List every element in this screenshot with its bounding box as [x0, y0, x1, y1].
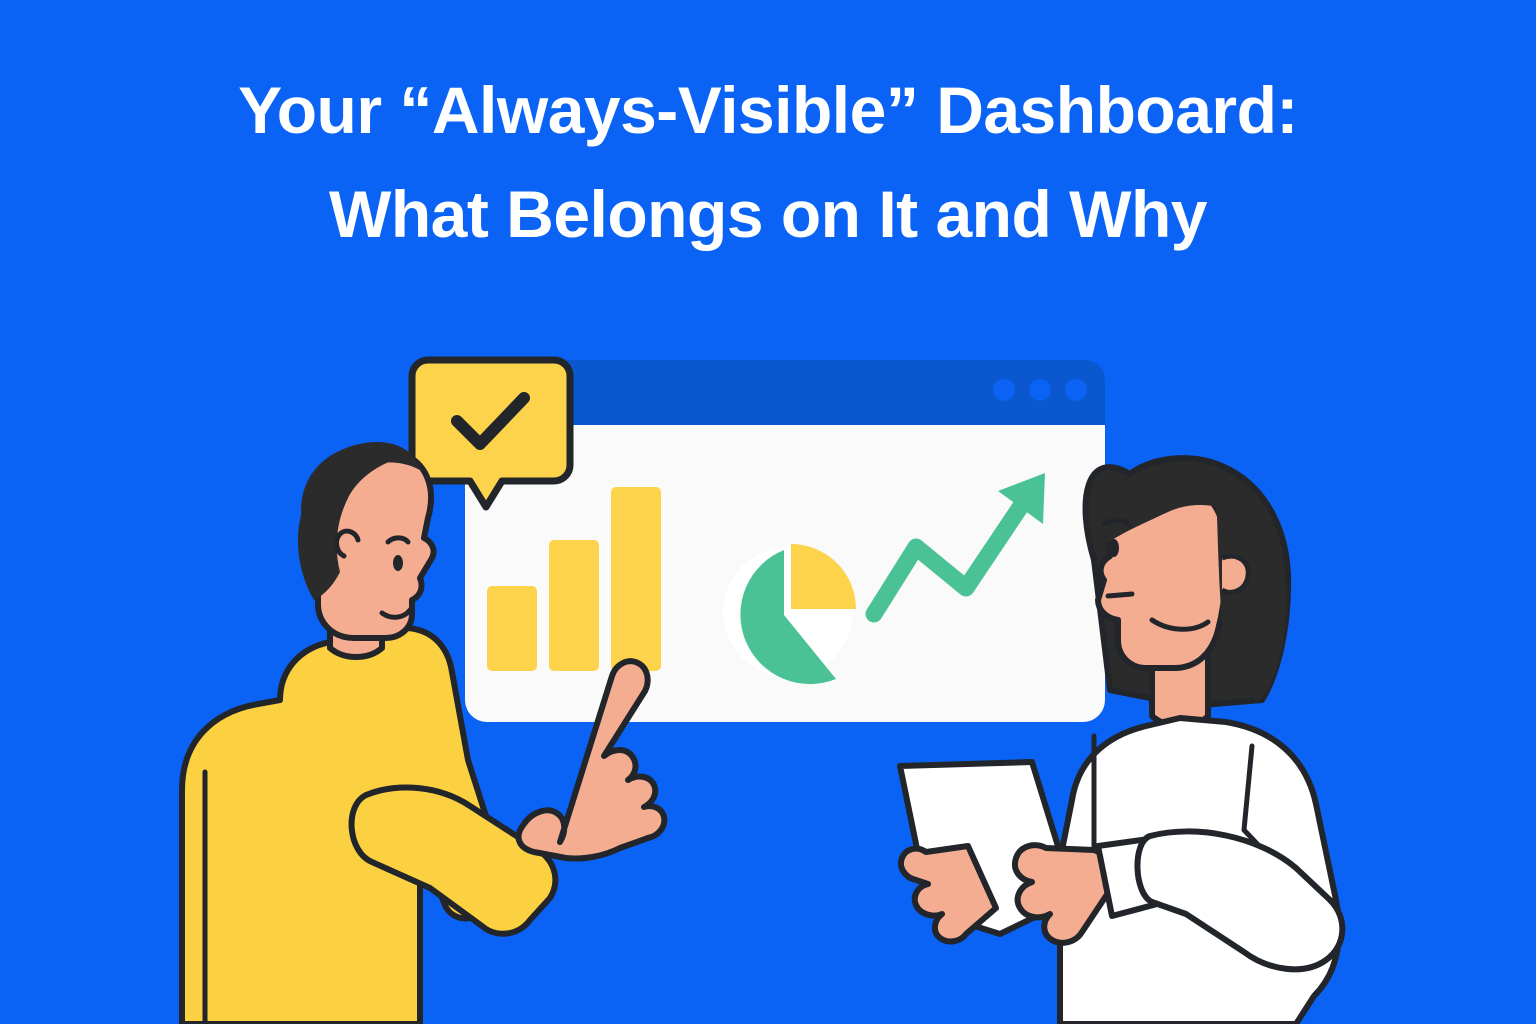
person-right-eye-icon: [1109, 539, 1119, 557]
person-left-eye-icon: [393, 555, 403, 571]
person-right-ear-icon: [1222, 556, 1248, 592]
window-header-dots: [993, 379, 1087, 401]
poster-canvas: Your “Always-Visible” Dashboard: What Be…: [0, 0, 1536, 1024]
bar-2[interactable]: [549, 540, 599, 671]
window-dot-1-icon[interactable]: [993, 379, 1015, 401]
window-dot-2-icon[interactable]: [1029, 379, 1051, 401]
illustration: [0, 0, 1536, 1024]
window-dot-3-icon[interactable]: [1065, 379, 1087, 401]
bar-1[interactable]: [487, 586, 537, 671]
bar-3[interactable]: [611, 487, 661, 671]
person-right-mouth-icon: [1108, 594, 1132, 596]
